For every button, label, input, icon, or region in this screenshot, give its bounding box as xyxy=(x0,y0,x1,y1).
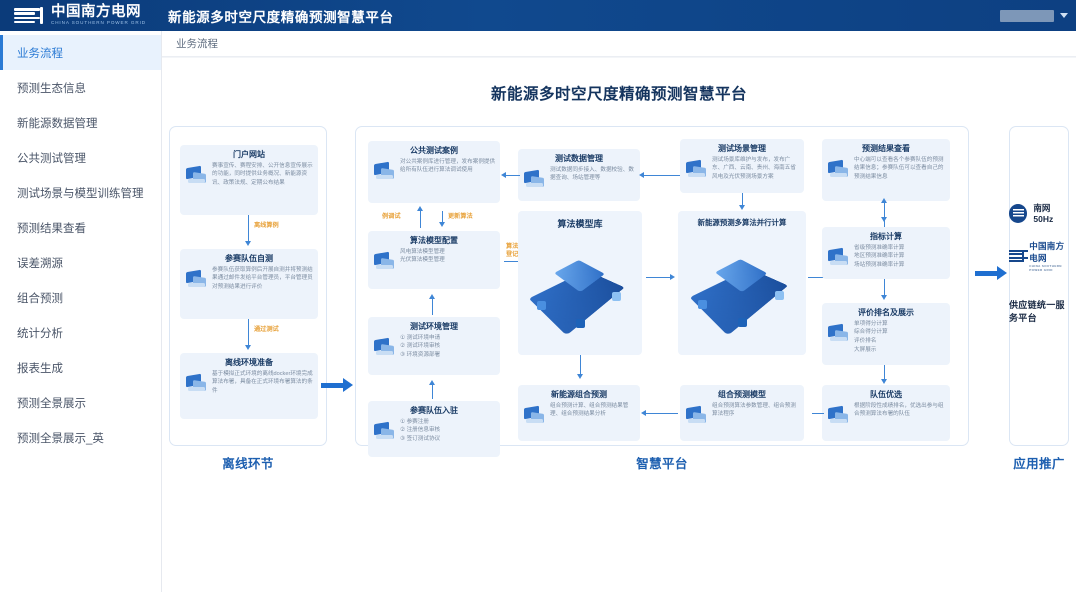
sidebar-item-label: 测试场景与模型训练管理 xyxy=(17,185,144,201)
sidebar-item-report[interactable]: 报表生成 xyxy=(0,350,161,385)
arrow-head-icon xyxy=(417,206,423,211)
list-item: ② 测试环境审核 xyxy=(400,342,496,351)
list-item: ② 注册信息审核 xyxy=(400,426,496,435)
arrow-head-icon xyxy=(429,294,435,299)
card-result-view[interactable]: 预测结果查看 中心端可以查看各个参赛队伍的预测结果信息；参赛队伍可以查看自己的预… xyxy=(822,139,950,201)
card-title: 测试场景管理 xyxy=(718,144,766,154)
card-title: 指标计算 xyxy=(870,232,902,242)
card-body: 中心端可以查看各个参赛队伍的预测结果信息；参赛队伍可以查看自己的预测结果信息 xyxy=(854,156,946,182)
breadcrumb: 业务流程 xyxy=(162,31,1076,57)
sidebar-item-energy-data[interactable]: 新能源数据管理 xyxy=(0,105,161,140)
content-area: 业务流程 新能源多时空尺度精确预测智慧平台 离线环节 门户网站 赛事宣传、赛程安… xyxy=(162,31,1076,592)
brand-name-en: CHINA SOUTHERN POWER GRID xyxy=(51,21,146,26)
team-illustration-icon xyxy=(184,266,210,292)
arrow-head-icon xyxy=(245,241,251,246)
card-title: 组合预测模型 xyxy=(718,390,766,400)
arrow-teamselect-to-combinedmodel xyxy=(812,413,824,414)
card-test-data[interactable]: 测试数据管理 测试数据同步接入、数据校验、数据查询、场站管理等 xyxy=(518,149,640,201)
arrow-testenv-to-algoconfig xyxy=(432,299,433,315)
arrow-label-algo-register: 算法 登记 xyxy=(506,243,518,259)
arrow-head-icon xyxy=(881,217,887,222)
card-body: 基于模拟正式环境的离线docker环境完成算法布署，具备在正式环境布署算法的条件 xyxy=(212,370,314,396)
sidebar-item-label: 预测全景展示 xyxy=(17,395,86,411)
environment-illustration-icon xyxy=(372,334,398,360)
promo-logo2-label: 中国南方电网 CHINA SOUTHERN POWER GRID xyxy=(1029,240,1069,272)
sidebar-item-label: 报表生成 xyxy=(17,360,63,376)
card-title: 新能源预测多算法并行计算 xyxy=(698,219,787,228)
big-arrow-offline-to-platform xyxy=(321,378,353,392)
csg-logo-icon xyxy=(1009,250,1024,262)
card-body: 测试场景库维护与发布，发布广东、广西、云南、贵州、海南五省风电及光伏预测场景方案 xyxy=(712,156,800,182)
parallel-compute-illustration-icon xyxy=(690,236,795,347)
docker-illustration-icon xyxy=(184,370,210,396)
website-illustration-icon xyxy=(184,162,210,188)
sidebar-item-scene-training[interactable]: 测试场景与模型训练管理 xyxy=(0,175,161,210)
sidebar-item-label: 误差溯源 xyxy=(17,255,63,271)
card-team-select[interactable]: 队伍优选 根据阶段性成绩排名，优选出参与组合预测算法布署的队伍 xyxy=(822,385,950,441)
brand-logo: 中国南方电网 CHINA SOUTHERN POWER GRID xyxy=(14,5,146,26)
nanwang-50hz-logo: 南网50Hz xyxy=(1009,202,1069,224)
list-item: 单项得分计算 xyxy=(854,320,946,329)
chevron-down-icon[interactable] xyxy=(1060,13,1068,18)
promotion-content: 南网50Hz 中国南方电网 CHINA SOUTHERN POWER GRID … xyxy=(1009,202,1069,324)
arrow-head-icon xyxy=(429,380,435,385)
sidebar-item-label: 业务流程 xyxy=(17,45,63,61)
list-item: 省级预测准确率计算 xyxy=(854,244,946,253)
sidebar-item-label: 预测全景展示_英 xyxy=(17,430,104,446)
card-rank-display[interactable]: 评价排名及展示 单项得分计算 综合得分计算 评价排名 大屏展示 xyxy=(822,303,950,365)
group-label-promotion: 应用推广 xyxy=(1010,453,1068,472)
sidebar-item-label: 组合预测 xyxy=(17,290,63,306)
arrow-head-icon xyxy=(577,374,583,379)
big-arrow-platform-to-promotion xyxy=(975,266,1007,280)
arrow-head-icon xyxy=(245,345,251,350)
result-view-illustration-icon xyxy=(826,156,852,182)
card-title: 参赛队伍入驻 xyxy=(410,406,458,416)
card-algo-library[interactable]: 算法模型库 xyxy=(518,211,642,355)
card-body: 对公共案例库进行管理，发布案例提供给所有队伍进行算法调试使用 xyxy=(400,158,496,175)
card-team-self-test[interactable]: 参赛队伍自测 参赛队伍获取算例后开展自测并将预测结果通过邮件发给平台管理员，平台… xyxy=(180,249,318,319)
sidebar-nav: 业务流程 预测生态信息 新能源数据管理 公共测试管理 测试场景与模型训练管理 预… xyxy=(0,31,162,592)
card-body: 组合预测算法参数管理、组合预测算法程序 xyxy=(712,402,800,419)
arrow-combinedmodel-to-combined xyxy=(646,413,678,414)
card-test-env[interactable]: 测试环境管理 ① 测试环境申请 ② 测试环境审核 ③ 环境资源部署 xyxy=(368,317,500,375)
diagram-canvas: 新能源多时空尺度精确预测智慧平台 离线环节 门户网站 赛事宣传、赛程安排、公开信… xyxy=(162,58,1076,592)
arrow-head-icon xyxy=(439,222,445,227)
combined-forecast-illustration-icon xyxy=(522,402,548,428)
card-parallel-calc[interactable]: 新能源预测多算法并行计算 xyxy=(678,211,806,355)
arrow-portal-to-selftest xyxy=(248,215,249,243)
card-body: 赛事宣传、赛程安排、公开信息宣传展示的功能，同时提供业务概况、新能源资讯、政策法… xyxy=(212,162,314,188)
sidebar-item-statistics[interactable]: 统计分析 xyxy=(0,315,161,350)
card-body: 省级预测准确率计算 地区预测准确率计算 场站预测准确率计算 xyxy=(854,244,946,270)
csg-secondary-logo: 中国南方电网 CHINA SOUTHERN POWER GRID xyxy=(1009,240,1069,272)
list-item: 场站预测准确率计算 xyxy=(854,261,946,270)
list-item: 评价排名 xyxy=(854,337,946,346)
promo-caption: 供应链统一服务平台 xyxy=(1009,298,1069,324)
card-team-entry[interactable]: 参赛队伍入驻 ① 参赛注册 ② 注册信息审核 ③ 签订测试协议 xyxy=(368,401,500,457)
list-item: ③ 环境资源部署 xyxy=(400,351,496,360)
card-scene-mgmt[interactable]: 测试场景管理 测试场景库维护与发布，发布广东、广西、云南、贵州、海南五省风电及光… xyxy=(680,139,804,193)
registration-illustration-icon xyxy=(372,418,398,444)
top-header-bar: 中国南方电网 CHINA SOUTHERN POWER GRID 新能源多时空尺… xyxy=(0,0,1076,31)
card-title: 算法模型库 xyxy=(557,219,602,230)
arrow-algolib-to-parallel xyxy=(646,277,672,278)
card-portal[interactable]: 门户网站 赛事宣传、赛程安排、公开信息宣传展示的功能，同时提供业务概况、新能源资… xyxy=(180,145,318,215)
list-item: 综合得分计算 xyxy=(854,328,946,337)
card-title: 队伍优选 xyxy=(870,390,902,400)
user-name-chip xyxy=(1000,10,1054,22)
sidebar-item-label: 统计分析 xyxy=(17,325,63,341)
card-index-calc[interactable]: 指标计算 省级预测准确率计算 地区预测准确率计算 场站预测准确率计算 xyxy=(822,227,950,279)
card-offline-env[interactable]: 离线环境准备 基于模拟正式环境的离线docker环境完成算法布署，具备在正式环境… xyxy=(180,353,318,419)
card-title: 测试数据管理 xyxy=(555,154,603,164)
arrow-head-icon xyxy=(670,274,675,280)
card-title: 公共测试案例 xyxy=(410,146,458,156)
group-platform: 智慧平台 公共测试案例 对公共案例库进行管理，发布案例提供给所有队伍进行算法调试… xyxy=(355,126,969,446)
sidebar-item-public-test[interactable]: 公共测试管理 xyxy=(0,140,161,175)
sidebar-item-result-view[interactable]: 预测结果查看 xyxy=(0,210,161,245)
list-item: ① 测试环境申请 xyxy=(400,334,496,343)
list-item: 大屏展示 xyxy=(854,346,946,355)
card-combined-model[interactable]: 组合预测模型 组合预测算法参数管理、组合预测算法程序 xyxy=(680,385,804,441)
card-title: 算法模型配置 xyxy=(410,236,458,246)
algorithm-library-illustration-icon xyxy=(529,238,631,347)
card-body: 单项得分计算 综合得分计算 评价排名 大屏展示 xyxy=(854,320,946,355)
ranking-illustration-icon xyxy=(826,320,852,346)
data-illustration-icon xyxy=(522,166,548,192)
sidebar-item-label: 新能源数据管理 xyxy=(17,115,98,131)
business-flow-diagram: 离线环节 门户网站 赛事宣传、赛程安排、公开信息宣传展示的功能，同时提供业务概况… xyxy=(169,116,1069,476)
card-title: 离线环境准备 xyxy=(225,358,273,368)
circle-logo-icon xyxy=(1009,204,1027,223)
sidebar-item-business-flow[interactable]: 业务流程 xyxy=(0,35,161,70)
card-body: 组合预测计算、组合预测结果管理、组合预测结果分析 xyxy=(550,402,636,419)
sidebar-item-error-tracing[interactable]: 误差溯源 xyxy=(0,245,161,280)
promo-logo2-cn: 中国南方电网 xyxy=(1029,241,1064,263)
index-calc-illustration-icon xyxy=(826,244,852,270)
app-shell: 业务流程 预测生态信息 新能源数据管理 公共测试管理 测试场景与模型训练管理 预… xyxy=(0,31,1076,592)
card-body: 风电算法模型管理 光伏算法模型管理 xyxy=(400,248,496,265)
arrow-head-icon xyxy=(639,172,644,178)
arrow-head-icon xyxy=(641,410,646,416)
arrow-teamentry-to-testenv xyxy=(432,385,433,399)
promo-logo1-label: 南网50Hz xyxy=(1033,202,1069,224)
card-public-case[interactable]: 公共测试案例 对公共案例库进行管理，发布案例提供给所有队伍进行算法调试使用 xyxy=(368,141,500,203)
card-title: 预测结果查看 xyxy=(862,144,910,154)
brand-text: 中国南方电网 CHINA SOUTHERN POWER GRID xyxy=(51,5,146,26)
user-menu[interactable] xyxy=(1000,10,1068,22)
card-body: 根据阶段性成绩排名，优选出参与组合预测算法布署的队伍 xyxy=(854,402,946,419)
arrow-head-icon xyxy=(501,172,506,178)
card-body: ① 参赛注册 ② 注册信息审核 ③ 签订测试协议 xyxy=(400,418,496,444)
diagram-title: 新能源多时空尺度精确预测智慧平台 xyxy=(162,82,1076,104)
card-title: 新能源组合预测 xyxy=(551,390,607,400)
card-title: 评价排名及展示 xyxy=(858,308,914,318)
brand-name-cn: 中国南方电网 xyxy=(51,5,146,20)
arrow-head-icon xyxy=(881,295,887,300)
sidebar-item-forecast-ecology[interactable]: 预测生态信息 xyxy=(0,70,161,105)
sidebar-item-label: 预测生态信息 xyxy=(17,80,86,96)
app-title: 新能源多时空尺度精确预测智慧平台 xyxy=(168,6,394,26)
list-item: 地区预测准确率计算 xyxy=(854,252,946,261)
csg-logo-icon xyxy=(14,7,44,24)
card-body: 参赛队伍获取算例后开展自测并将预测结果通过邮件发给平台管理员，平台管理员对预测结… xyxy=(212,266,314,292)
sidebar-item-label: 公共测试管理 xyxy=(17,150,86,166)
promo-logo2-en: CHINA SOUTHERN POWER GRID xyxy=(1029,264,1069,272)
algorithm-illustration-icon xyxy=(372,248,398,274)
combined-model-illustration-icon xyxy=(684,402,710,428)
sidebar-item-combined-forecast[interactable]: 组合预测 xyxy=(0,280,161,315)
card-body: ① 测试环境申请 ② 测试环境审核 ③ 环境资源部署 xyxy=(400,334,496,360)
scene-illustration-icon xyxy=(684,156,710,182)
arrow-label-offline-case: 离线算例 xyxy=(254,222,279,230)
arrow-selftest-to-offlineenv xyxy=(248,319,249,347)
sidebar-item-panorama[interactable]: 预测全景展示 xyxy=(0,385,161,420)
card-body: 测试数据同步接入、数据校验、数据查询、场站管理等 xyxy=(550,166,636,183)
team-select-illustration-icon xyxy=(826,402,852,428)
list-item: ① 参赛注册 xyxy=(400,418,496,427)
breadcrumb-current: 业务流程 xyxy=(176,36,218,51)
arrow-label-debug: 例调试 xyxy=(382,213,401,221)
arrow-label-pass-test: 通过测试 xyxy=(254,326,279,334)
list-item: ③ 签订测试协议 xyxy=(400,435,496,444)
arrow-label-update-algo: 更新算法 xyxy=(448,213,473,221)
group-label-offline: 离线环节 xyxy=(170,453,326,472)
card-combined-forecast[interactable]: 新能源组合预测 组合预测计算、组合预测结果管理、组合预测结果分析 xyxy=(518,385,640,441)
group-offline: 离线环节 门户网站 赛事宣传、赛程安排、公开信息宣传展示的功能，同时提供业务概况… xyxy=(169,126,327,446)
sidebar-item-panorama-en[interactable]: 预测全景展示_英 xyxy=(0,420,161,455)
arrow-head-icon xyxy=(739,205,745,210)
arrow-debug-up xyxy=(420,211,421,228)
arrow-head-icon xyxy=(881,379,887,384)
sidebar-item-label: 预测结果查看 xyxy=(17,220,86,236)
card-title: 参赛队伍自测 xyxy=(225,254,273,264)
card-algo-config[interactable]: 算法模型配置 风电算法模型管理 光伏算法模型管理 xyxy=(368,231,500,289)
card-title: 测试环境管理 xyxy=(410,322,458,332)
case-library-illustration-icon xyxy=(372,158,398,184)
arrow-testdata-to-publiccase xyxy=(506,175,520,176)
card-title: 门户网站 xyxy=(233,150,265,160)
